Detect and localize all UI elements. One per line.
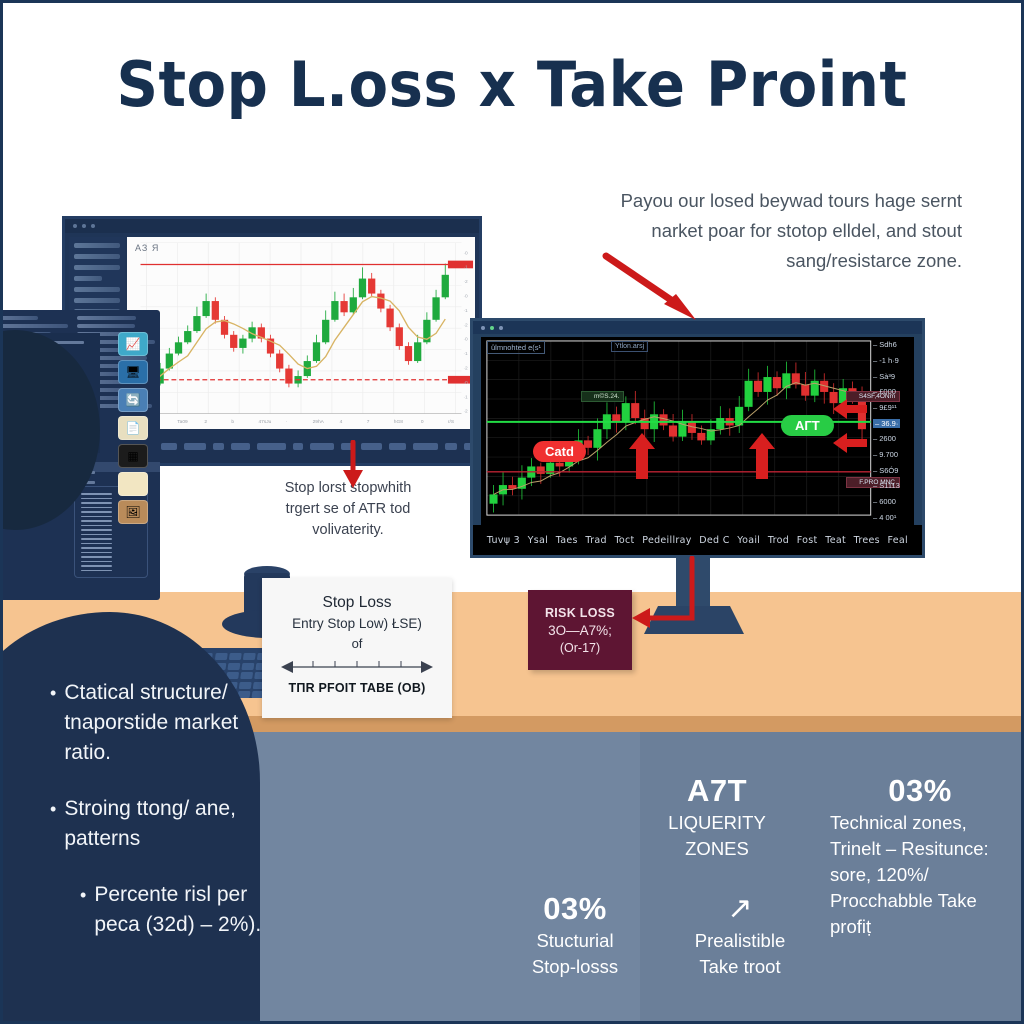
price-tick-label: – S6Ó9: [873, 466, 898, 475]
sidebar-row[interactable]: [74, 276, 102, 281]
right-chart-timeframe-label: Ytlon.arsj: [611, 341, 648, 352]
svg-text:hG8: hG8: [394, 419, 403, 425]
price-tick-label: – 9.700: [873, 450, 898, 459]
callout-line-2: narket poar for stotop elldel, and stout: [556, 216, 962, 246]
window-dot-3: [91, 224, 95, 228]
left-arrow-icon-2: [833, 433, 867, 453]
time-tick-label: Toct: [614, 535, 634, 546]
price-tick-label: – 4 00¹: [873, 513, 896, 522]
vent-slit: [81, 520, 112, 522]
price-tick-label: – £000: [873, 387, 896, 396]
svg-text:·0: ·0: [463, 337, 468, 343]
list-item: •Ctatical structure/ tnaporstide market …: [50, 678, 290, 768]
buy-badge[interactable]: AГT: [781, 415, 834, 436]
tower-list-row: [0, 324, 68, 328]
right-monitor-stand-base: [644, 606, 744, 634]
svg-text:·2: ·2: [463, 409, 468, 415]
time-tick-label: Pedeillray: [642, 535, 691, 546]
time-tick-label: Feal: [888, 535, 908, 546]
sidebar-row[interactable]: [74, 298, 120, 303]
tool-icon-strip[interactable]: 📈 🖥 🔄 📄 ▦ 🖼: [118, 332, 152, 524]
left-chart-canvas[interactable]: ·Ta092b47sJu·29hA47hG80r/S·0·1·2·0·1·2·0…: [127, 237, 475, 429]
svg-text:r/S: r/S: [448, 419, 454, 425]
bullet-dot: •: [80, 880, 86, 940]
monitor-icon[interactable]: 🖥: [118, 360, 148, 384]
svg-text:·2: ·2: [463, 322, 468, 328]
list-item: •Stroing ttong/ ane, patterns: [50, 794, 290, 854]
keyboard-key[interactable]: [243, 653, 256, 660]
bullet-text: Ctatical structure/ tnaporstide market r…: [64, 678, 290, 768]
svg-text:Ta09: Ta09: [177, 419, 188, 425]
time-tick-label: Ded C: [699, 535, 729, 546]
price-tick-label: – 36.9·: [873, 419, 900, 428]
up-arrow-icon-2: [749, 433, 775, 479]
stat-structural-stoploss: 03% Stucturial Stop-losss: [490, 890, 660, 980]
time-tick-label: Yoail: [737, 535, 760, 546]
right-window-dot-3: [499, 326, 503, 330]
toolbar-item[interactable]: [293, 443, 303, 450]
vent-slit: [81, 565, 112, 567]
bullet-text: Stroing ttong/ ane, patterns: [64, 794, 290, 854]
sync-icon[interactable]: 🔄: [118, 388, 148, 412]
chart-icon[interactable]: 📈: [118, 332, 148, 356]
image-icon[interactable]: 🖼: [118, 500, 148, 524]
svg-text:·0: ·0: [463, 293, 468, 299]
stat-a-value: A7T: [642, 772, 792, 810]
risk-loss-value: 3O—A7%;: [548, 623, 612, 638]
window-dot-1: [73, 224, 77, 228]
caption-line-2: trgert se of ATR tod: [268, 499, 428, 520]
svg-text:2: 2: [204, 419, 207, 425]
right-chart-price-axis: – Sdh6– -1 h·9– Sà³9– £000– 9£9¹¹– 36.9·…: [870, 337, 914, 525]
toolbar-item[interactable]: [184, 443, 206, 450]
key-points-list: •Ctatical structure/ tnaporstide market …: [50, 678, 290, 966]
svg-text:b: b: [231, 419, 234, 425]
qrcode-icon[interactable]: ▦: [118, 444, 148, 468]
stat-a-label: LIQUERITY ZONES: [642, 810, 792, 862]
card-title: Stop Loss: [323, 594, 392, 612]
tower-list-row: [0, 316, 38, 320]
svg-text:0: 0: [421, 419, 424, 425]
sell-badge[interactable]: Catd: [533, 441, 586, 462]
document-icon[interactable]: 📄: [118, 416, 148, 440]
up-arrow-icon-1: [629, 433, 655, 479]
sidebar-row[interactable]: [74, 265, 120, 270]
right-window-dot-1: [481, 326, 485, 330]
trend-up-arrow-icon: ↗: [660, 890, 820, 928]
time-tick-label: Trad: [585, 535, 606, 546]
infographic-canvas: Stop L.oss x Take Proint Payou our losed…: [0, 0, 1024, 1024]
keyboard-key[interactable]: [229, 653, 242, 660]
toolbar-item[interactable]: [341, 443, 355, 450]
keyboard-key[interactable]: [215, 653, 228, 660]
toolbar-item[interactable]: [213, 443, 225, 450]
right-chart-legend-left: m©S.24.: [581, 391, 624, 402]
svg-text:·0: ·0: [463, 380, 468, 386]
card-subtitle: Entry Stop Low) ŁSE): [292, 616, 422, 632]
page-title: Stop L.oss x Take Proint: [36, 48, 988, 121]
vent-slit: [81, 561, 112, 563]
stat-b-label: Technical zones, Trinelt – Resitunce: so…: [830, 810, 1010, 940]
right-chart-symbol-label: ûlmnohted e(s¹: [487, 341, 545, 354]
caption-line-1: Stop lorst stopwhith: [268, 478, 428, 499]
vent-slit: [81, 525, 112, 527]
toolbar-item[interactable]: [257, 443, 286, 450]
list-item: •Percente risl per peca (32d) – 2%).: [50, 880, 290, 940]
stat-b-value: 03%: [830, 772, 1010, 810]
price-tick-label: – -1 h·9: [873, 356, 899, 365]
price-tick-label: – 6000: [873, 497, 896, 506]
svg-text:·2: ·2: [463, 365, 468, 371]
svg-text:·2: ·2: [463, 279, 468, 285]
svg-text:·1: ·1: [463, 394, 468, 400]
svg-text:·1: ·1: [463, 308, 468, 314]
vent-slit: [81, 556, 112, 558]
price-tick-label: – Sdh6: [873, 340, 897, 349]
svg-text:·: ·: [286, 420, 288, 425]
vent-slit: [81, 543, 112, 545]
svg-text:47sJu: 47sJu: [258, 419, 271, 425]
right-chart-canvas[interactable]: ûlmnohted e(s¹ Ytlon.arsj m©S.24. S4SF,4…: [481, 337, 914, 525]
vent-slit: [81, 516, 112, 518]
tower-list-row: [77, 324, 136, 328]
window-dot-2: [82, 224, 86, 228]
toolbar-item[interactable]: [310, 443, 334, 450]
stat-take-profit: ↗ Prealistible Take troot: [660, 890, 820, 980]
left-monitor-titlebar: [65, 219, 479, 233]
risk-loss-box[interactable]: RISK LOSS 3O—A7%; (Or-17): [528, 590, 632, 670]
time-tick-label: Tuvψ 3: [487, 535, 520, 546]
vent-slit: [81, 511, 112, 513]
stop-loss-card[interactable]: Stop Loss Entry Stop Low) ŁSE) of TΠR PF…: [262, 578, 452, 718]
right-monitor-titlebar: [473, 321, 922, 334]
card-of-label: of: [352, 636, 363, 651]
bullet-dot: •: [50, 678, 56, 768]
right-chart-time-axis: Tuvψ 3YsalTaesTradToctPedeillrayDed CYoa…: [473, 525, 922, 555]
stat-technical-zones: 03% Technical zones, Trinelt – Resitunce…: [830, 772, 1010, 940]
stat-liquidity-zones: A7T LIQUERITY ZONES: [642, 772, 792, 862]
toolbar-item[interactable]: [361, 443, 381, 450]
price-tick-label: – Sà³9: [873, 372, 895, 381]
vent-slit: [81, 547, 112, 549]
price-tick-label: – 9£9¹¹: [873, 403, 897, 412]
stat-c-label: Stucturial Stop-losss: [490, 928, 660, 980]
time-tick-label: Teat: [825, 535, 846, 546]
right-window-dot-2: [490, 326, 494, 330]
left-monitor-caption: Stop lorst stopwhith trgert se of ATR to…: [268, 478, 428, 541]
vent-slit: [81, 507, 112, 509]
caption-line-3: volivaterity.: [268, 520, 428, 541]
time-tick-label: Fost: [797, 535, 818, 546]
summary-stats: A7T LIQUERITY ZONES 03% Technical zones,…: [470, 760, 1014, 1010]
vent-slit: [81, 529, 112, 531]
range-ruler: [281, 657, 433, 677]
vent-slit: [81, 570, 112, 572]
stat-c-value: 03%: [490, 890, 660, 928]
toolbar-item[interactable]: [389, 443, 406, 450]
vent-slit: [81, 534, 112, 536]
time-tick-label: Trod: [768, 535, 789, 546]
time-tick-label: Ysal: [528, 535, 548, 546]
left-chart-symbol-label: АЗ Я: [135, 243, 159, 253]
price-tick-label: – 2600: [873, 434, 896, 443]
sidebar-row[interactable]: [74, 254, 120, 259]
svg-text:·0: ·0: [463, 250, 468, 256]
svg-text:29hA: 29hA: [313, 419, 325, 425]
sidebar-row[interactable]: [74, 287, 120, 292]
callout-line-3: sang/resistarce zone.: [556, 246, 962, 276]
sidebar-row[interactable]: [74, 243, 120, 248]
toolbar-item[interactable]: [413, 443, 438, 450]
svg-text:4: 4: [340, 419, 343, 425]
vent-slit: [81, 552, 112, 554]
callout-line-1: Payou our losed beywad tours hage sernt: [556, 186, 962, 216]
svg-text:7: 7: [367, 419, 370, 425]
bullet-dot: •: [50, 794, 56, 854]
left-arrow-icon-1: [833, 399, 867, 419]
price-tick-label: – S1113: [873, 481, 900, 490]
keyboard-key[interactable]: [228, 663, 241, 670]
toolbar-item[interactable]: [161, 443, 176, 450]
svg-text:·1: ·1: [463, 351, 468, 357]
right-monitor-stand-neck: [676, 558, 710, 610]
right-monitor[interactable]: ûlmnohted e(s¹ Ytlon.arsj m©S.24. S4SF,4…: [470, 318, 925, 558]
note-icon[interactable]: [118, 472, 148, 496]
time-tick-label: Trees: [854, 535, 880, 546]
risk-loss-title: RISK LOSS: [545, 606, 615, 620]
callout-paragraph: Payou our losed beywad tours hage sernt …: [556, 186, 962, 276]
toolbar-item[interactable]: [231, 443, 250, 450]
vent-slit: [81, 538, 112, 540]
keyboard-key[interactable]: [242, 663, 255, 670]
toolbar-item[interactable]: [445, 443, 457, 450]
risk-loss-note: (Or-17): [560, 641, 600, 655]
time-tick-label: Taes: [556, 535, 578, 546]
bullet-text: Percente risl per peca (32d) – 2%).: [94, 880, 290, 940]
tower-list-row: [77, 316, 137, 320]
card-footer-label: TΠR PFOIT TABE (OB): [289, 681, 426, 695]
stat-d-label: Prealistible Take troot: [660, 928, 820, 980]
svg-text:·1: ·1: [463, 265, 468, 271]
